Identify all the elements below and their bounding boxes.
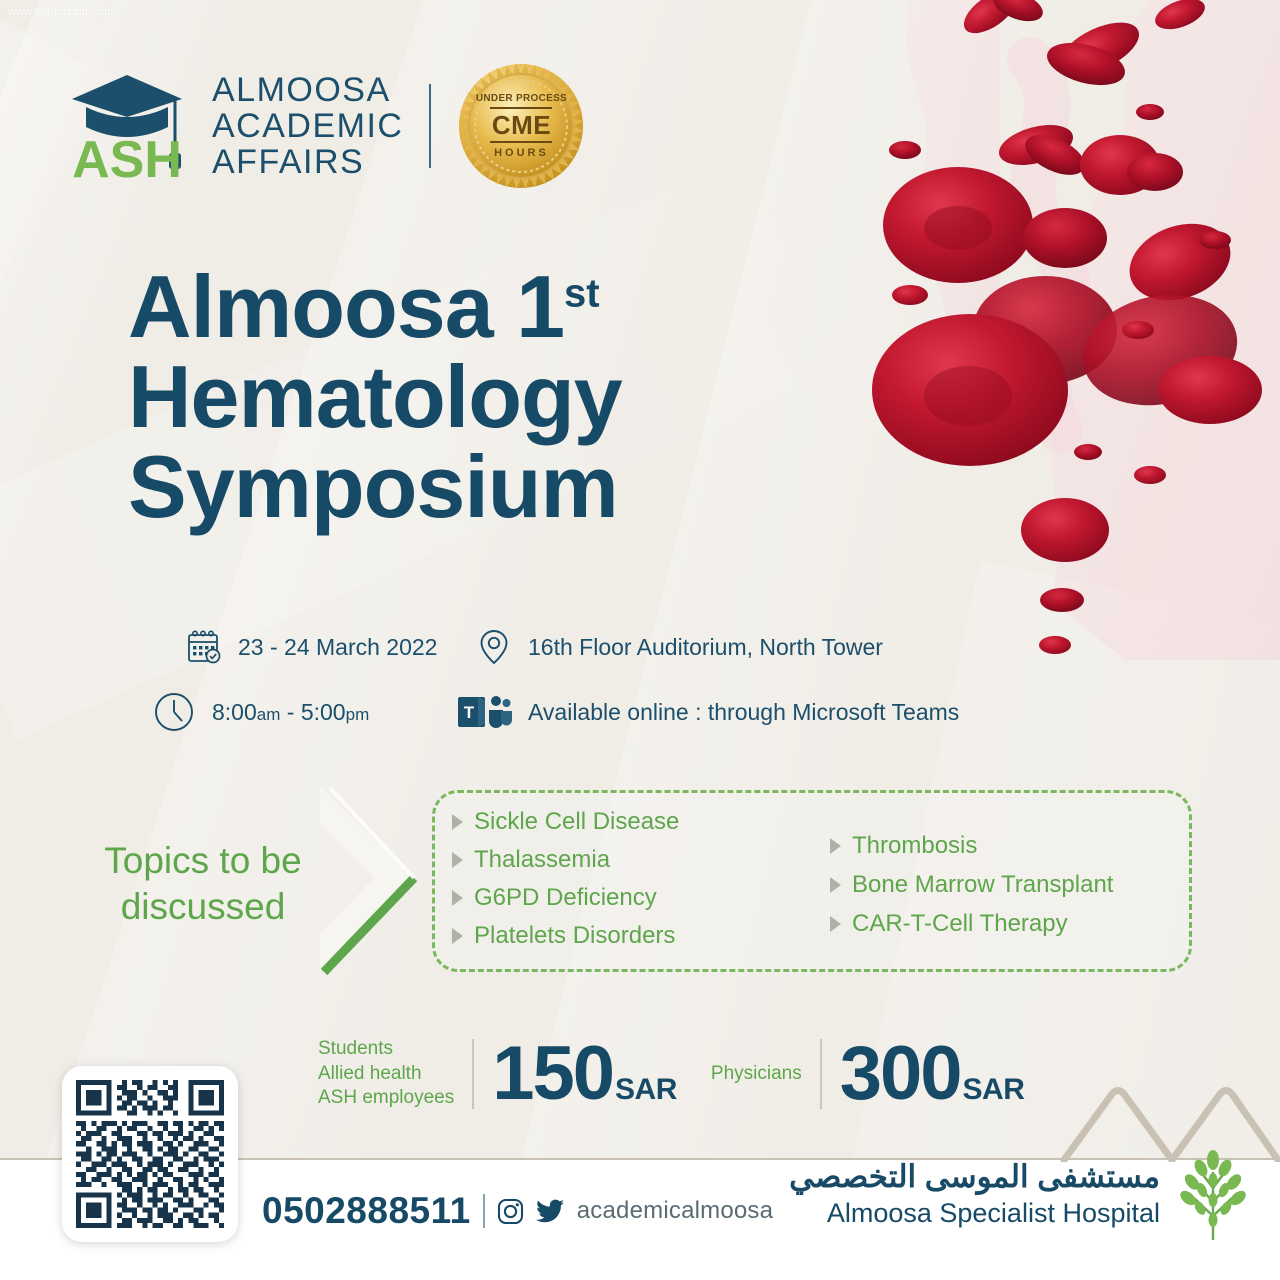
event-time-pm: pm bbox=[346, 705, 370, 724]
hospital-name-english: Almoosa Specialist Hospital bbox=[789, 1197, 1160, 1229]
event-online-item: T Available online : through Microsoft T… bbox=[456, 690, 959, 734]
brand-name: ALMOOSA ACADEMIC AFFAIRS bbox=[212, 72, 403, 180]
bullet-triangle-icon bbox=[830, 877, 841, 893]
bullet-triangle-icon bbox=[452, 890, 463, 906]
location-pin-icon bbox=[476, 628, 512, 666]
event-venue: 16th Floor Auditorium, North Tower bbox=[528, 634, 883, 661]
arrow-icon bbox=[318, 786, 448, 986]
bullet-triangle-icon bbox=[452, 852, 463, 868]
event-date-item: 23 - 24 March 2022 bbox=[186, 629, 476, 665]
poster-header: ASH ALMOOSA ACADEMIC AFFAIRS bbox=[68, 62, 585, 190]
bullet-triangle-icon bbox=[452, 928, 463, 944]
topics-label: Topics to be discussed bbox=[78, 838, 328, 931]
contact-info: 0502888511 academicalmoosa bbox=[262, 1190, 773, 1232]
bullet-triangle-icon bbox=[452, 814, 463, 830]
brand-line-2: ACADEMIC bbox=[212, 107, 403, 145]
event-time-am: am bbox=[257, 705, 281, 724]
price-audience-line: Physicians bbox=[711, 1062, 802, 1087]
price-currency: SAR bbox=[963, 1073, 1025, 1107]
title-line-1: Almoosa 1 bbox=[128, 257, 564, 356]
event-venue-item: 16th Floor Auditorium, North Tower bbox=[476, 628, 883, 666]
price-currency: SAR bbox=[615, 1073, 677, 1107]
price-audience: Students Allied health ASH employees bbox=[318, 1037, 454, 1111]
price-amount: 300 SAR bbox=[840, 1036, 1025, 1112]
page-title: Almoosa 1st Hematology Symposium bbox=[128, 262, 622, 531]
cme-badge-top: UNDER PROCESS bbox=[476, 94, 567, 104]
hospital-logo: مستشفى الموسى التخصصي Almoosa Specialist… bbox=[789, 1146, 1252, 1242]
price-audience: Physicians bbox=[711, 1062, 802, 1087]
bullet-triangle-icon bbox=[830, 838, 841, 854]
phone-number[interactable]: 0502888511 bbox=[262, 1190, 471, 1232]
price-amount: 150 SAR bbox=[492, 1036, 677, 1112]
topics-list: Sickle Cell Disease Thalassemia G6PD Def… bbox=[452, 800, 1192, 966]
header-divider bbox=[429, 84, 431, 168]
cme-badge: UNDER PROCESS CME HOURS bbox=[457, 62, 585, 190]
price-divider bbox=[820, 1039, 822, 1109]
qr-code-icon[interactable] bbox=[76, 1080, 224, 1228]
contact-divider bbox=[483, 1194, 485, 1228]
price-value: 300 bbox=[840, 1036, 961, 1112]
topic-label: CAR-T-Cell Therapy bbox=[852, 910, 1068, 938]
topic-item: CAR-T-Cell Therapy bbox=[830, 910, 1170, 938]
topic-label: Thalassemia bbox=[474, 846, 610, 874]
price-group-physicians: Physicians 300 SAR bbox=[711, 1036, 1024, 1112]
hospital-name-arabic: مستشفى الموسى التخصصي bbox=[789, 1158, 1160, 1197]
calendar-icon bbox=[186, 629, 222, 665]
social-handle[interactable]: academicalmoosa bbox=[577, 1197, 773, 1225]
cme-badge-bottom: HOURS bbox=[494, 148, 549, 159]
brand-line-3: AFFAIRS bbox=[212, 143, 364, 181]
topic-item: Thalassemia bbox=[452, 846, 782, 874]
microsoft-teams-icon: T bbox=[456, 690, 512, 734]
title-line-2: Hematology bbox=[128, 352, 622, 442]
brand-line-1: ALMOOSA bbox=[212, 71, 391, 109]
topics-column-left: Sickle Cell Disease Thalassemia G6PD Def… bbox=[452, 808, 782, 966]
title-line-3: Symposium bbox=[128, 442, 622, 532]
event-time-item: 8:00am - 5:00pm bbox=[152, 690, 442, 734]
twitter-icon[interactable] bbox=[536, 1198, 565, 1225]
blood-cells-illustration bbox=[850, 0, 1280, 660]
topics-label-line-2: discussed bbox=[121, 886, 286, 927]
event-time: 8:00am - 5:00pm bbox=[212, 699, 369, 726]
topics-label-line-1: Topics to be bbox=[104, 840, 301, 881]
topic-item: Thrombosis bbox=[830, 832, 1170, 860]
pricing-section: Students Allied health ASH employees 150… bbox=[318, 1036, 1024, 1112]
bullet-triangle-icon bbox=[830, 916, 841, 932]
topic-item: G6PD Deficiency bbox=[452, 884, 782, 912]
price-group-students: Students Allied health ASH employees 150… bbox=[318, 1036, 677, 1112]
svg-text:T: T bbox=[464, 703, 475, 722]
topic-label: G6PD Deficiency bbox=[474, 884, 657, 912]
title-ordinal-suffix: st bbox=[564, 272, 600, 316]
svg-text:ASH: ASH bbox=[72, 131, 182, 185]
price-divider bbox=[472, 1039, 474, 1109]
topic-label: Bone Marrow Transplant bbox=[852, 871, 1113, 899]
event-info: 23 - 24 March 2022 16th Floor Auditorium… bbox=[186, 628, 959, 758]
price-value: 150 bbox=[492, 1036, 613, 1112]
hospital-name: مستشفى الموسى التخصصي Almoosa Specialist… bbox=[789, 1158, 1160, 1229]
clock-icon bbox=[152, 690, 196, 734]
cme-badge-main: CME bbox=[492, 112, 551, 138]
price-audience-line: Allied health bbox=[318, 1062, 454, 1087]
instagram-icon[interactable] bbox=[497, 1198, 524, 1225]
topic-label: Thrombosis bbox=[852, 832, 977, 860]
ash-logo-icon: ASH bbox=[68, 67, 186, 185]
poster-canvas: www.soutjazaan.com bbox=[0, 0, 1280, 1280]
topic-item: Sickle Cell Disease bbox=[452, 808, 782, 836]
topics-column-right: Thrombosis Bone Marrow Transplant CAR-T-… bbox=[830, 808, 1170, 966]
event-date: 23 - 24 March 2022 bbox=[238, 634, 437, 661]
topic-label: Platelets Disorders bbox=[474, 922, 675, 950]
event-online: Available online : through Microsoft Tea… bbox=[528, 699, 959, 726]
event-time-start: 8:00 bbox=[212, 699, 257, 725]
tree-icon bbox=[1174, 1146, 1252, 1242]
price-audience-line: ASH employees bbox=[318, 1086, 454, 1111]
topic-label: Sickle Cell Disease bbox=[474, 808, 679, 836]
event-time-end: - 5:00 bbox=[287, 699, 346, 725]
topic-item: Platelets Disorders bbox=[452, 922, 782, 950]
qr-code-card[interactable] bbox=[62, 1066, 238, 1242]
price-audience-line: Students bbox=[318, 1037, 454, 1062]
topic-item: Bone Marrow Transplant bbox=[830, 871, 1170, 899]
site-watermark: www.soutjazaan.com bbox=[8, 6, 117, 18]
